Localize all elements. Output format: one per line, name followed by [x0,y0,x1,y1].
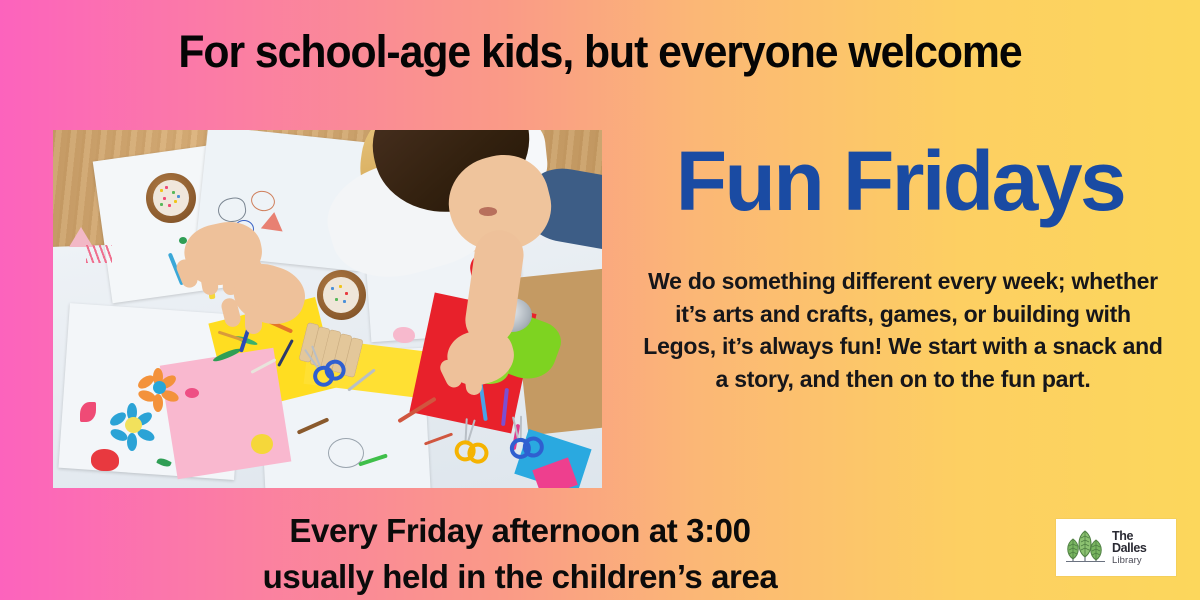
schedule-line-1: Every Friday afternoon at 3:00 [170,508,870,554]
photo-scene [53,130,602,488]
schedule-line-2: usually held in the children’s area [170,554,870,600]
logo-wordmark: The Dalles Library [1112,530,1170,566]
description-text: We do something different every week; wh… [638,265,1168,395]
headline: For school-age kids, but everyone welcom… [30,26,1170,78]
page-title: Fun Fridays [620,138,1180,224]
logo-name-line-2: Library [1112,556,1170,566]
logo-name-line-1: The Dalles [1112,530,1170,555]
three-trees-icon [1062,527,1108,569]
activity-photo [53,130,602,488]
library-logo[interactable]: The Dalles Library [1056,519,1176,576]
schedule-text: Every Friday afternoon at 3:00 usually h… [170,508,870,600]
poster-canvas: For school-age kids, but everyone welcom… [0,0,1200,600]
